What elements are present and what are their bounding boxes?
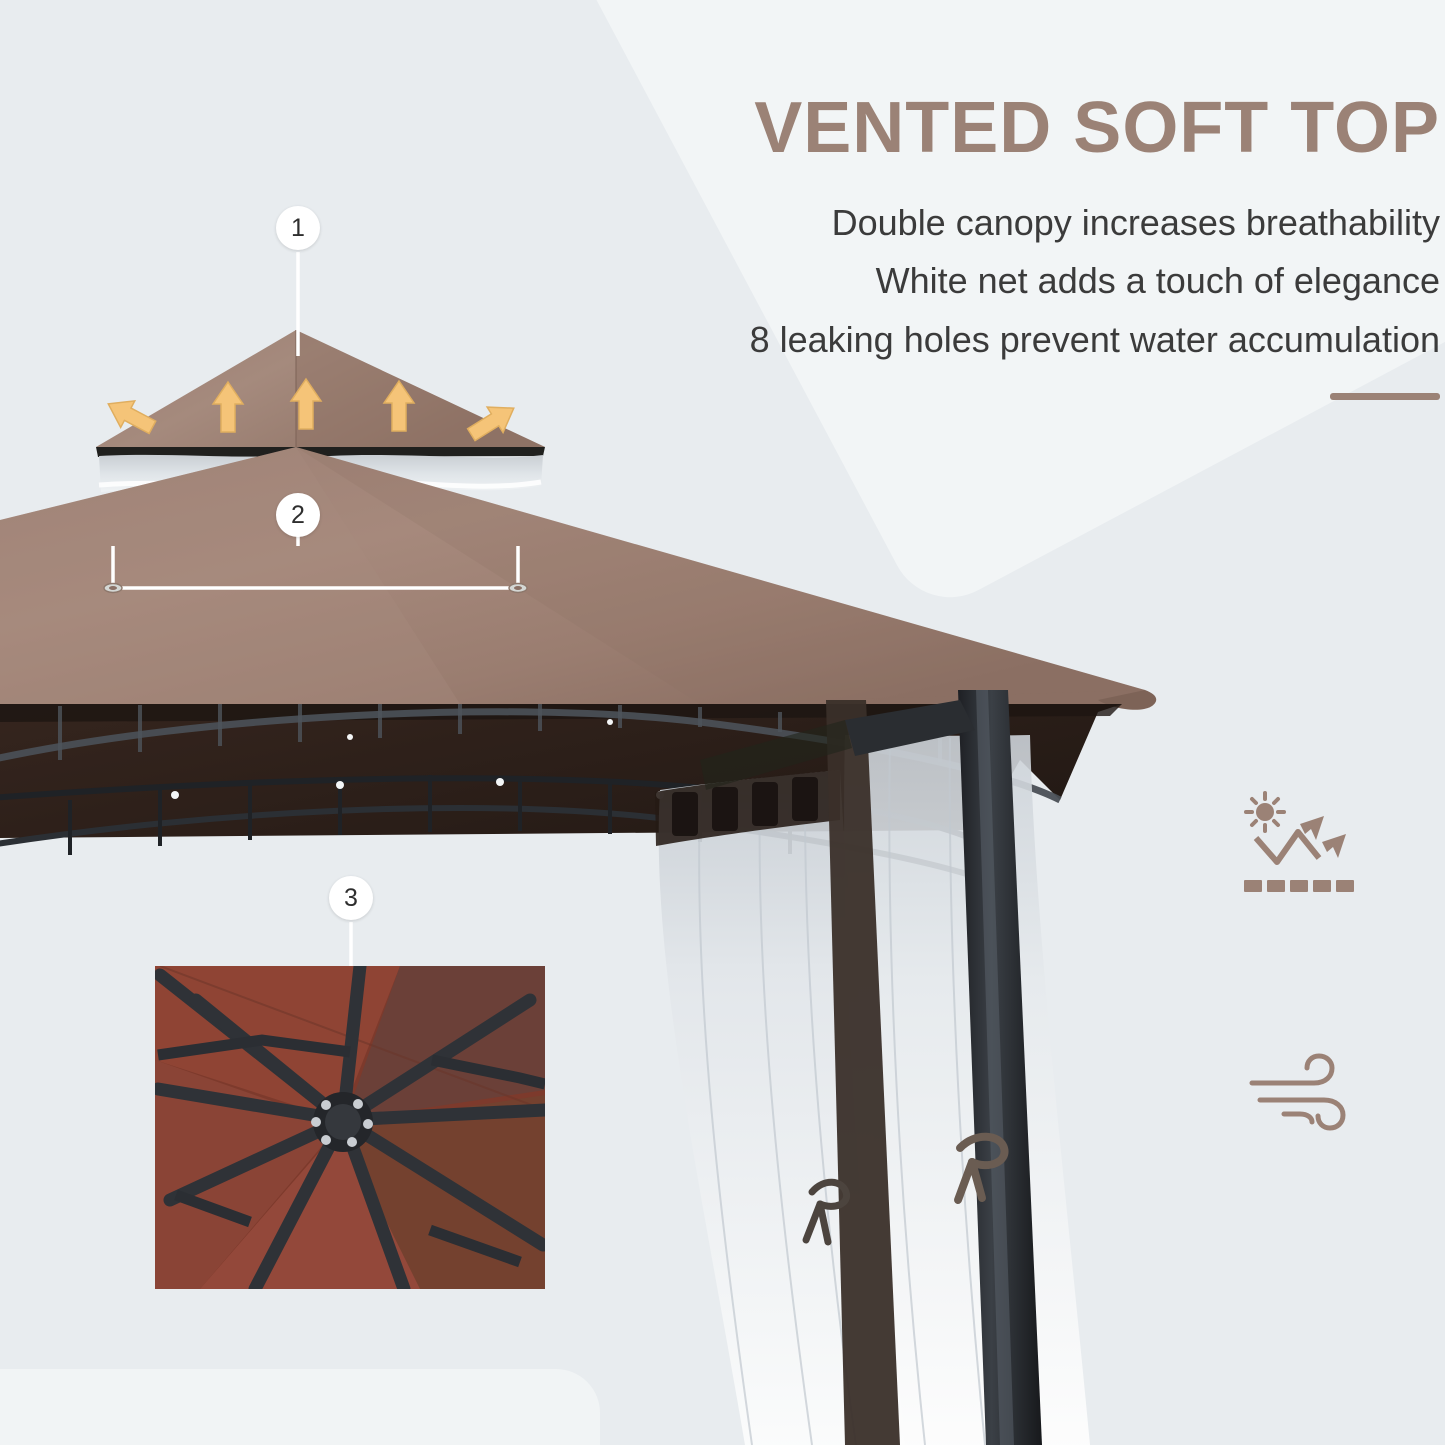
page-title: VENTED SOFT TOP [560,92,1440,164]
feature-line-2: White net adds a touch of elegance [560,252,1440,310]
wind-resistant-icon [1248,1052,1360,1134]
uv-protection-icon [1236,790,1358,906]
callout-marker-1[interactable]: 1 [276,206,320,250]
feature-line-3: 8 leaking holes prevent water accumulati… [560,311,1440,369]
callout-marker-3[interactable]: 3 [329,876,373,920]
infographic-canvas: VENTED SOFT TOP Double canopy increases … [0,0,1445,1445]
feature-line-1: Double canopy increases breathability [560,194,1440,252]
callout-marker-2[interactable]: 2 [276,493,320,537]
headline-block: VENTED SOFT TOP Double canopy increases … [560,92,1440,400]
headline-divider [1330,393,1440,400]
